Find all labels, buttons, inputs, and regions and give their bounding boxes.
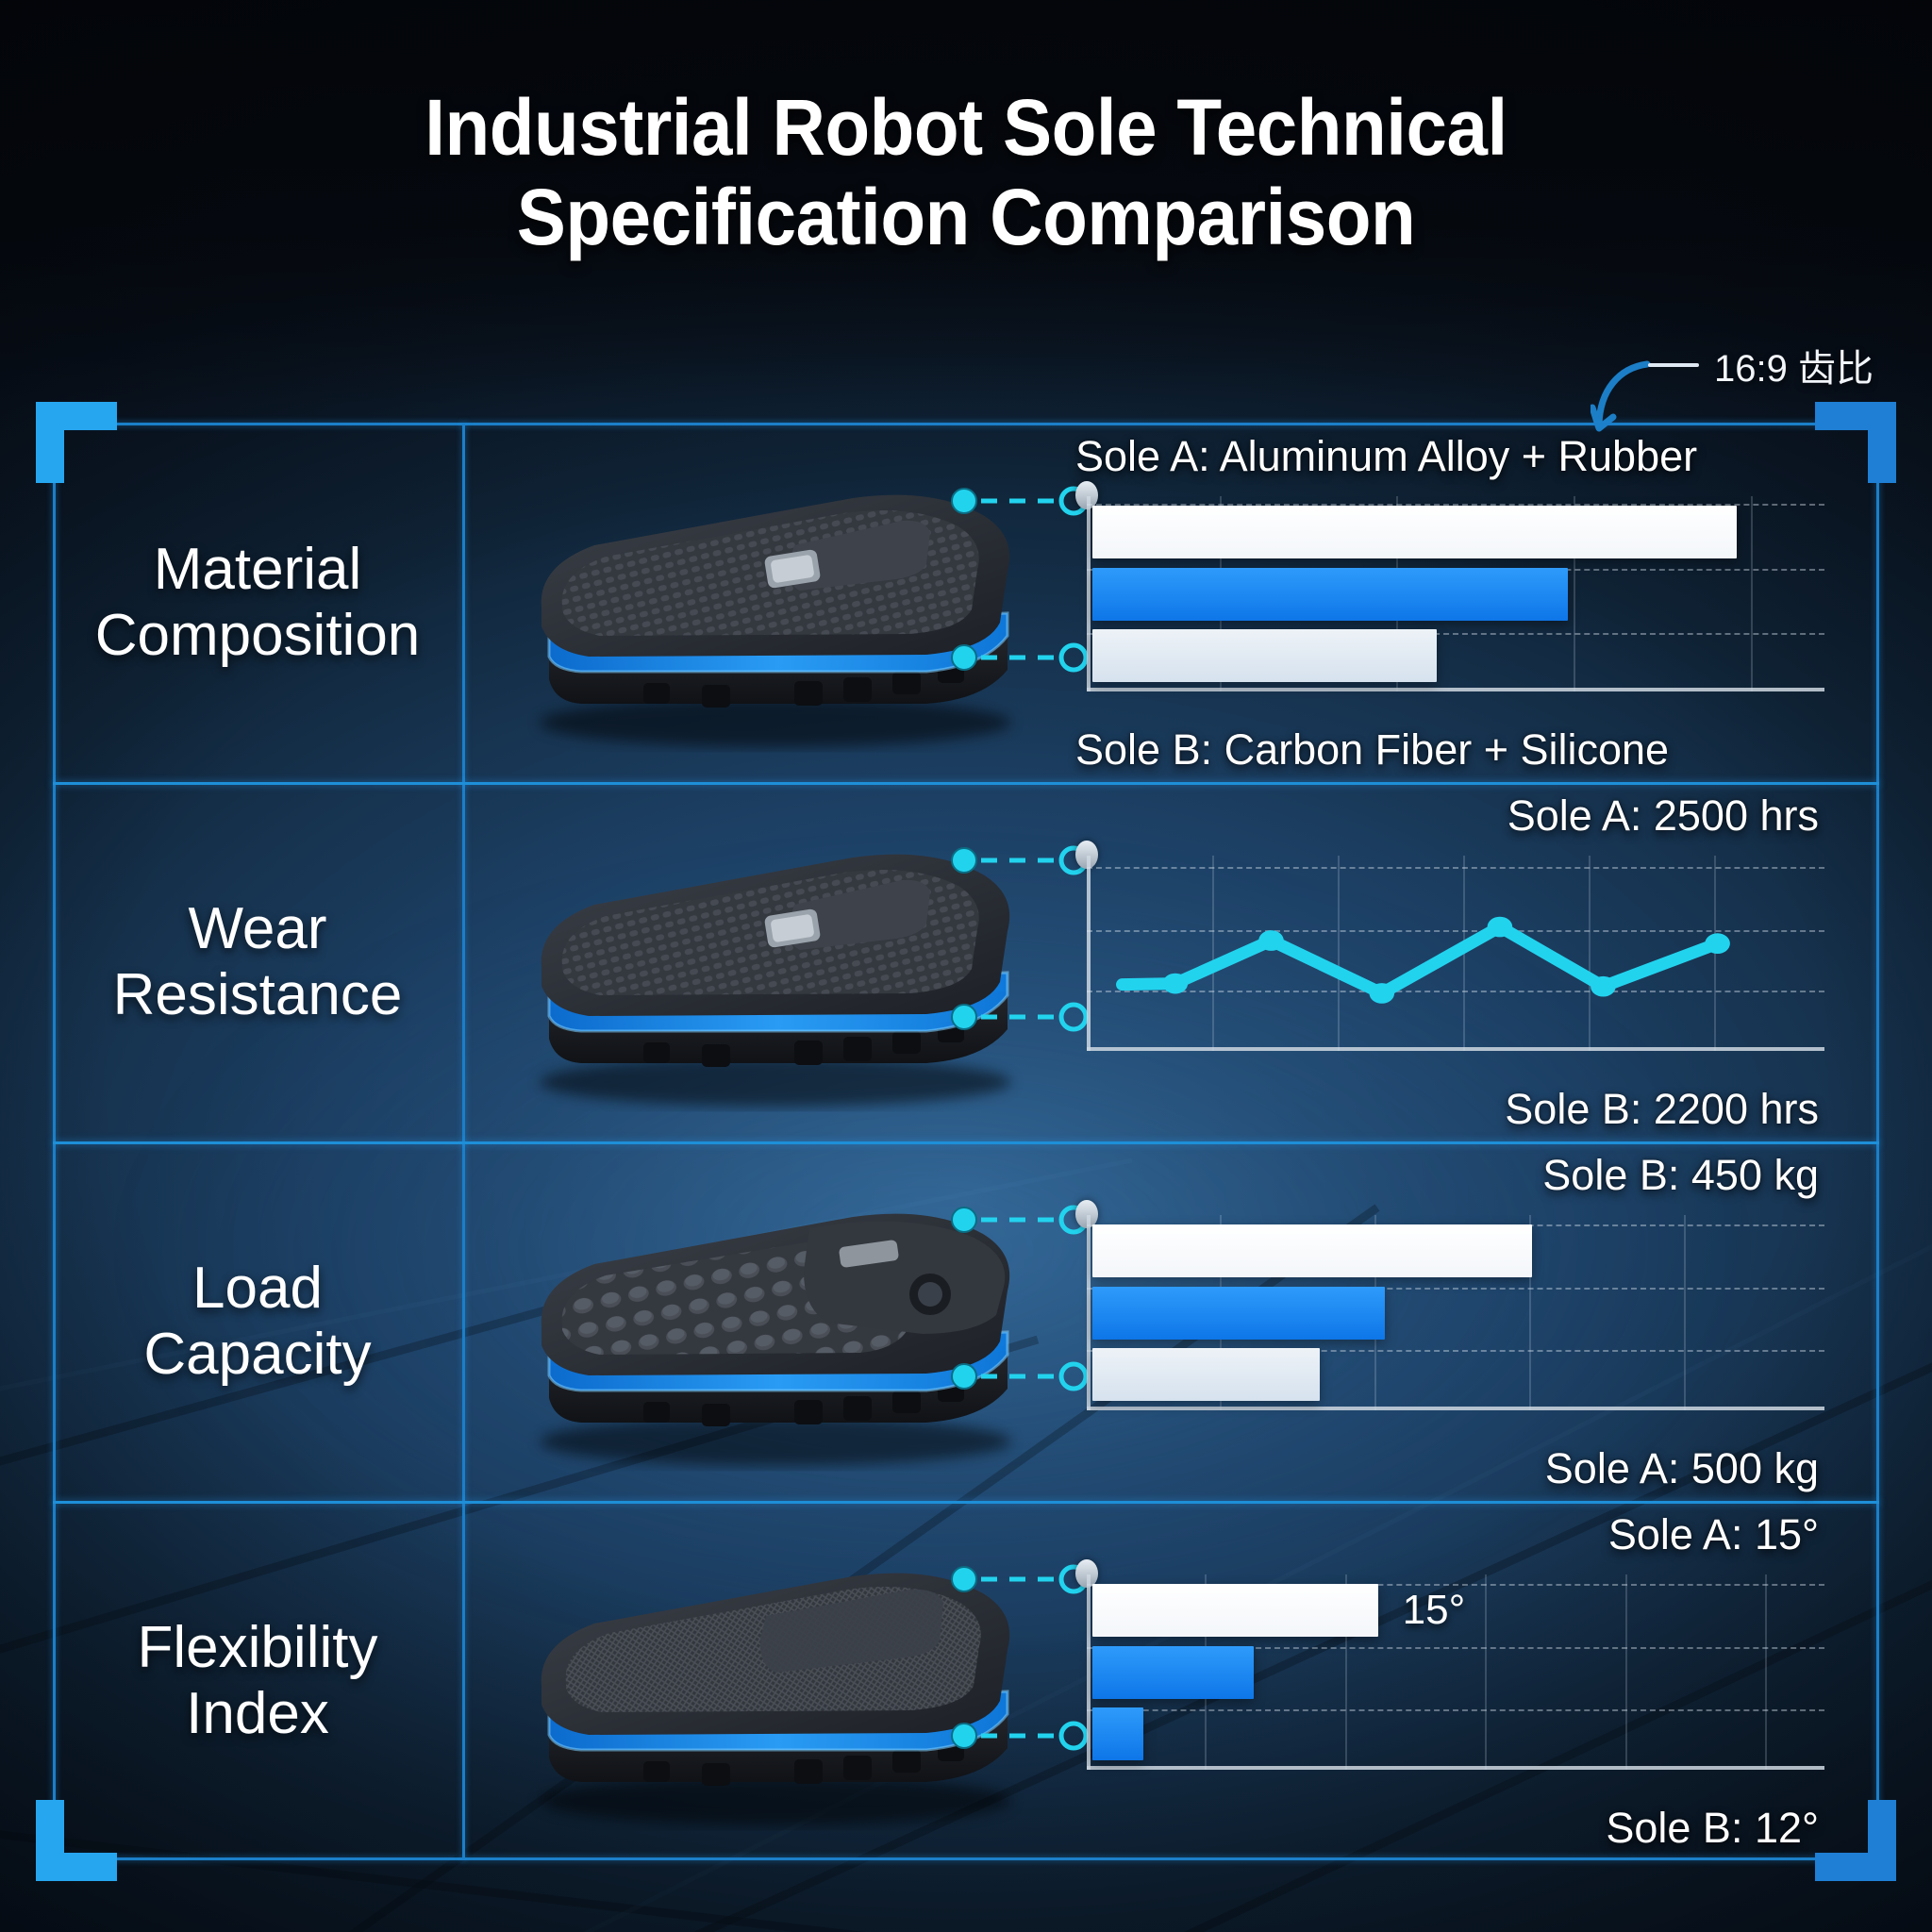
- aspect-ratio-badge: 16:9 齿比: [1648, 338, 1874, 392]
- chart-load-capacity: Sole B: 450 kg Sole A: 500 kg: [1070, 1141, 1879, 1501]
- row-load-capacity: Load Capacity: [53, 1141, 1879, 1501]
- sole-visual-load: [462, 1141, 1070, 1501]
- row-label-material-composition: Material Composition: [53, 423, 462, 782]
- robot-sole-studded-icon: [462, 1141, 1070, 1501]
- plot-area-material: [1087, 496, 1824, 691]
- dash-icon: [1648, 363, 1699, 367]
- chart-caption-bottom-load: Sole A: 500 kg: [1545, 1444, 1819, 1493]
- bar-3: [1092, 1707, 1143, 1760]
- row-label-line2: Capacity: [143, 1322, 371, 1387]
- row-label-line1: Wear: [188, 896, 326, 961]
- row-label-line1: Load: [192, 1256, 323, 1321]
- line-markers-wear: [1087, 856, 1824, 1051]
- axis-vertical: [1087, 1574, 1091, 1770]
- bar-3: [1092, 629, 1437, 682]
- bar-data-label: 15°: [1403, 1587, 1466, 1634]
- infographic-canvas: Industrial Robot Sole Technical Specific…: [0, 0, 1932, 1932]
- row-label-wear-resistance: Wear Resistance: [53, 782, 462, 1141]
- row-wear-resistance: Wear Resistance: [53, 782, 1879, 1141]
- sole-visual-wear: [462, 782, 1070, 1141]
- chart-flexibility-index: Sole A: 15° Sole B: 12°: [1070, 1501, 1879, 1860]
- bar-row-1: 15°: [1092, 1584, 1824, 1637]
- chart-caption-bottom-flexibility: Sole B: 12°: [1606, 1804, 1819, 1853]
- bar-1: [1092, 1224, 1532, 1277]
- bar-3: [1092, 1348, 1320, 1401]
- bar-1: [1092, 1584, 1378, 1637]
- chart-caption-top-flexibility: Sole A: 15°: [1608, 1510, 1819, 1559]
- axis-vertical: [1087, 1215, 1091, 1410]
- chart-caption-top-wear: Sole A: 2500 hrs: [1507, 791, 1819, 841]
- chart-caption-top-load: Sole B: 450 kg: [1542, 1151, 1819, 1200]
- page-title: Industrial Robot Sole Technical Specific…: [68, 83, 1865, 262]
- bar-2: [1092, 568, 1568, 621]
- row-label-flexibility-index: Flexibility Index: [53, 1501, 462, 1860]
- chart-caption-bottom-material: Sole B: Carbon Fiber + Silicone: [1075, 725, 1669, 774]
- row-material-composition: Material Composition: [53, 423, 1879, 782]
- bar-group-flexibility: 15°: [1092, 1574, 1824, 1770]
- chart-caption-top-material: Sole A: Aluminum Alloy + Rubber: [1075, 432, 1697, 481]
- plot-area-wear: [1087, 856, 1824, 1051]
- row-label-line1: Material: [154, 537, 362, 602]
- robot-sole-textured-icon: [462, 423, 1070, 782]
- chart-wear-resistance: Sole A: 2500 hrs Sole B: 2200 hrs: [1070, 782, 1879, 1141]
- chart-material-composition: Sole A: Aluminum Alloy + Rubber Sole B: …: [1070, 423, 1879, 782]
- row-label-line2: Index: [186, 1681, 329, 1746]
- row-label-load-capacity: Load Capacity: [53, 1141, 462, 1501]
- plot-area-load: [1087, 1215, 1824, 1410]
- axis-vertical: [1087, 496, 1091, 691]
- robot-sole-smooth-icon: [462, 1501, 1070, 1860]
- sole-visual-material: [462, 423, 1070, 782]
- plot-area-flexibility: 15°: [1087, 1574, 1824, 1770]
- bar-1: [1092, 506, 1737, 558]
- chart-caption-bottom-wear: Sole B: 2200 hrs: [1505, 1085, 1819, 1134]
- robot-sole-textured-icon: [462, 782, 1070, 1141]
- bar-2: [1092, 1287, 1385, 1340]
- row-label-line2: Composition: [95, 603, 421, 668]
- comparison-table-frame: Material Composition: [53, 423, 1879, 1860]
- bar-2: [1092, 1646, 1254, 1699]
- row-label-line2: Resistance: [113, 962, 403, 1027]
- row-label-line1: Flexibility: [138, 1615, 378, 1680]
- sole-visual-flexibility: [462, 1501, 1070, 1860]
- bar-group-load: [1092, 1215, 1824, 1410]
- row-flexibility-index: Flexibility Index: [53, 1501, 1879, 1860]
- bar-group-material: [1092, 496, 1824, 691]
- aspect-ratio-label: 16:9 齿比: [1714, 338, 1874, 392]
